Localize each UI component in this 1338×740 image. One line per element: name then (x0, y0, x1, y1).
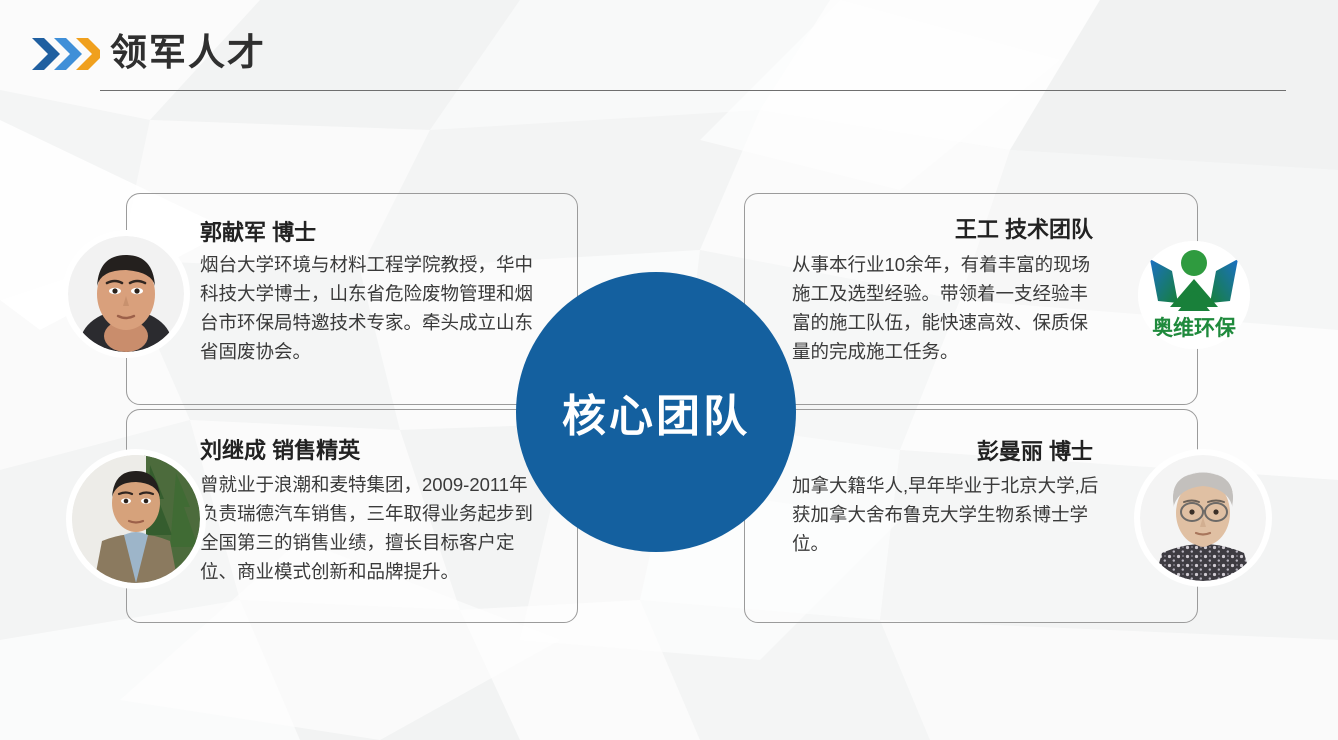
avatar-peng-manli (1140, 455, 1266, 581)
avatar-guo-xianjun (68, 236, 184, 352)
member-desc-wang-gong: 从事本行业10余年，有着丰富的现场施工及选型经验。带领着一支经验丰富的施工队伍，… (792, 250, 1102, 366)
logo-text: 奥维环保 (1152, 316, 1237, 340)
member-name-guo-xianjun: 郭献军 博士 (200, 218, 316, 248)
member-desc-peng-manli: 加拿大籍华人,早年毕业于北京大学,后获加拿大舍布鲁克大学生物系博士学位。 (792, 471, 1112, 558)
slide-canvas: 领军人才 郭献军 博士 烟台大学环境与材料工程学院教授，华中科技大学博士，山东省… (0, 0, 1338, 740)
center-circle: 核心团队 (516, 272, 796, 552)
avatar-liu-jicheng (72, 455, 200, 583)
company-logo: 奥维环保 (1138, 241, 1250, 349)
member-desc-guo-xianjun: 烟台大学环境与材料工程学院教授，华中科技大学博士，山东省危险废物管理和烟台市环保… (200, 250, 540, 366)
page-title: 领军人才 (110, 27, 266, 79)
center-circle-label: 核心团队 (562, 380, 750, 444)
member-desc-liu-jicheng: 曾就业于浪潮和麦特集团，2009-2011年负责瑞德汽车销售，三年取得业务起步到… (200, 470, 540, 586)
slide-header: 领军人才 (0, 0, 1338, 110)
member-name-liu-jicheng: 刘继成 销售精英 (200, 436, 360, 466)
chevron-triple-icon (30, 36, 100, 72)
title-divider (100, 90, 1286, 91)
member-name-wang-gong: 王工 技术团队 (955, 215, 1093, 245)
member-name-peng-manli: 彭曼丽 博士 (977, 437, 1093, 467)
